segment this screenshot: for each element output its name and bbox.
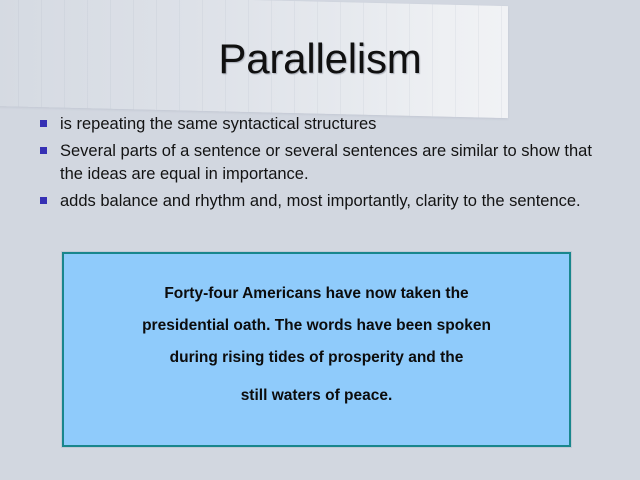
square-bullet-icon [40,197,47,204]
list-item: Several parts of a sentence or several s… [36,140,614,186]
bullet-list: is repeating the same syntactical struct… [36,113,614,217]
list-item-label: adds balance and rhythm and, most import… [60,190,614,213]
quote-callout-box: Forty-four Americans have now taken the … [62,252,571,447]
list-item: is repeating the same syntactical struct… [36,113,614,136]
list-item: adds balance and rhythm and, most import… [36,190,614,213]
square-bullet-icon [40,120,47,127]
list-item-label: is repeating the same syntactical struct… [60,113,614,136]
quote-line: during rising tides of prosperity and th… [76,342,557,374]
slide-canvas: Parallelism is repeating the same syntac… [0,0,640,480]
quote-line: still waters of peace. [76,380,557,412]
quote-text-block: Forty-four Americans have now taken the … [76,278,557,412]
page-title: Parallelism [0,34,640,84]
list-item-label: Several parts of a sentence or several s… [60,140,614,186]
quote-line: Forty-four Americans have now taken the [76,278,557,310]
quote-line: presidential oath. The words have been s… [76,310,557,342]
square-bullet-icon [40,147,47,154]
